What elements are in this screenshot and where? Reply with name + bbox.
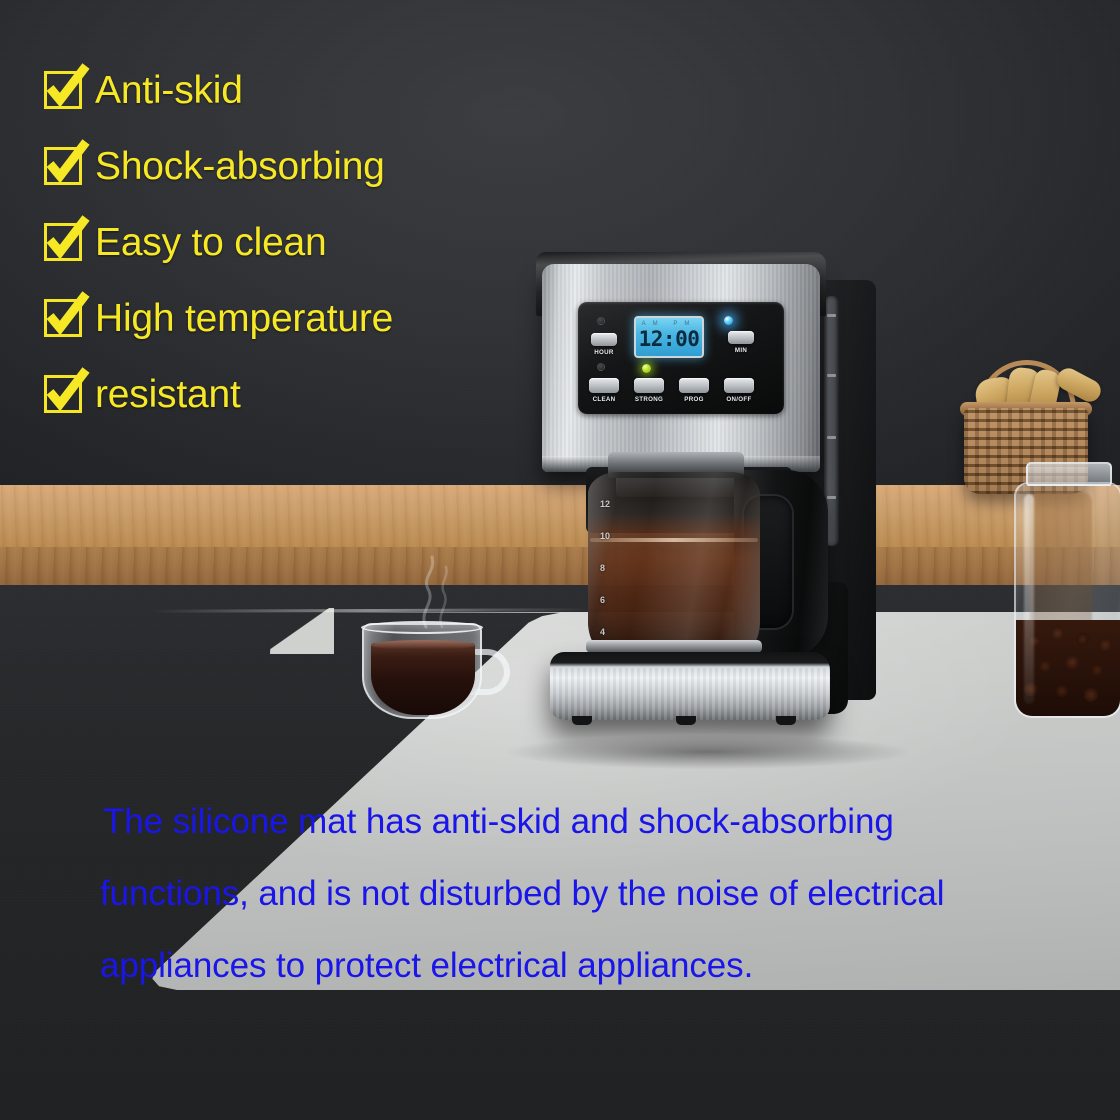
product-feature-image: AM PM 12:00 HOUR MIN CLEAN STRONG PROG O… — [0, 0, 1120, 1120]
cup-coffee-surface — [371, 640, 475, 650]
strong-button-label: STRONG — [628, 396, 670, 403]
jar-glass-body — [1014, 482, 1120, 718]
onoff-button[interactable] — [724, 378, 754, 393]
cup-coffee-liquid — [371, 643, 475, 715]
carafe-mark: 6 — [600, 596, 624, 605]
machine-foot — [676, 716, 696, 725]
machine-stainless-head: AM PM 12:00 HOUR MIN CLEAN STRONG PROG O… — [542, 264, 820, 472]
coffee-bean-jar — [1012, 462, 1120, 724]
min-button-label: MIN — [724, 347, 758, 354]
checkbox-checked-icon — [44, 375, 82, 413]
min-button[interactable] — [728, 331, 754, 344]
hour-button-label: HOUR — [586, 349, 622, 356]
strong-button[interactable] — [634, 378, 664, 393]
description-caption: The silicone mat has anti-skid and shock… — [103, 786, 1103, 1002]
cup-glass-body — [362, 623, 482, 719]
jar-lid[interactable] — [1026, 462, 1112, 486]
caption-line: functions, and is not disturbed by the n… — [100, 858, 1103, 930]
indicator-dot-upper — [597, 317, 605, 325]
feature-item: Easy to clean — [44, 204, 474, 280]
feature-item: High temperature — [44, 280, 474, 356]
checkbox-checked-icon — [44, 147, 82, 185]
carafe-mark: 10 — [600, 532, 624, 541]
power-led-blue — [724, 316, 733, 325]
feature-label: resistant — [95, 375, 241, 414]
cup-rim — [361, 621, 483, 634]
steam-icon — [392, 549, 472, 629]
onoff-button-label: ON/OFF — [717, 396, 761, 403]
brew-led-green — [642, 364, 651, 373]
clean-button[interactable] — [589, 378, 619, 393]
prog-button-label: PROG — [674, 396, 714, 403]
hour-button[interactable] — [591, 333, 617, 346]
machine-foot — [776, 716, 796, 725]
machine-foot — [572, 716, 592, 725]
carafe-glass-body: 12 10 8 6 4 — [588, 472, 760, 662]
caption-line: The silicone mat has anti-skid and shock… — [103, 786, 1103, 858]
feature-label: High temperature — [95, 299, 393, 338]
carafe-mark: 4 — [600, 628, 624, 637]
lcd-clock-time: 12:00 — [639, 329, 700, 350]
feature-label: Anti-skid — [95, 71, 243, 110]
clean-button-label: CLEAN — [584, 396, 624, 403]
feature-label: Shock-absorbing — [95, 147, 385, 186]
checkbox-checked-icon — [44, 299, 82, 337]
base-brushed-texture — [550, 668, 830, 720]
glass-carafe: 12 10 8 6 4 — [586, 452, 772, 684]
feature-item: Anti-skid — [44, 52, 474, 128]
checkbox-checked-icon — [44, 71, 82, 109]
prog-button[interactable] — [679, 378, 709, 393]
feature-label: Easy to clean — [95, 223, 327, 262]
carafe-measurement-marks: 12 10 8 6 4 — [600, 500, 624, 660]
coffee-cup — [362, 623, 512, 731]
jar-glass-highlight — [1024, 494, 1034, 704]
indicator-dot-lower — [597, 363, 605, 371]
machine-base — [550, 652, 830, 720]
checkbox-checked-icon — [44, 223, 82, 261]
feature-item: resistant — [44, 356, 474, 432]
carafe-mark: 12 — [600, 500, 624, 509]
lcd-top-indicators: AM PM — [636, 321, 702, 327]
coffee-maker: AM PM 12:00 HOUR MIN CLEAN STRONG PROG O… — [528, 252, 888, 762]
control-panel[interactable]: AM PM 12:00 HOUR MIN CLEAN STRONG PROG O… — [578, 302, 784, 414]
feature-checklist: Anti-skid Shock-absorbing Easy to clean … — [44, 52, 474, 432]
lcd-display: AM PM 12:00 — [634, 316, 704, 358]
carafe-mark: 8 — [600, 564, 624, 573]
caption-line: appliances to protect electrical applian… — [100, 930, 1103, 1002]
feature-item: Shock-absorbing — [44, 128, 474, 204]
